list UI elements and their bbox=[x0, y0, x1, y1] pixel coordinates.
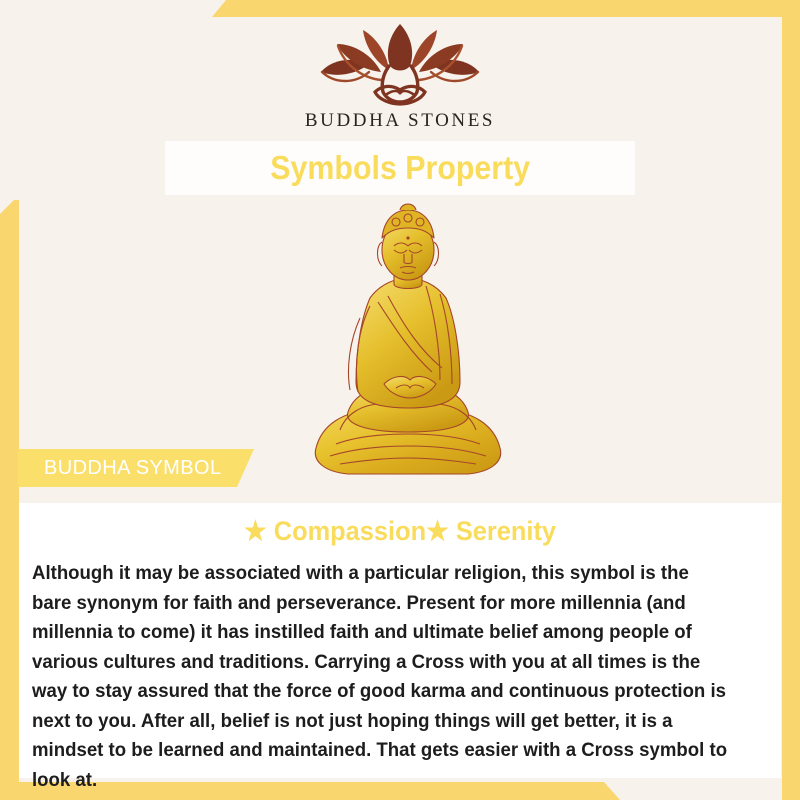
decor-top-right-bar bbox=[212, 0, 800, 17]
section-banner-label: BUDDHA SYMBOL bbox=[18, 457, 221, 480]
content-card: ★ Compassion★ Serenity Although it may b… bbox=[19, 503, 781, 778]
content-subtitle: ★ Compassion★ Serenity bbox=[42, 516, 758, 547]
lotus-meditation-figure-icon bbox=[311, 22, 489, 108]
page-title: Symbols Property bbox=[270, 149, 530, 187]
title-band: Symbols Property bbox=[165, 141, 635, 195]
brand-wordmark: BUDDHA STONES bbox=[0, 110, 800, 132]
content-paragraph: Although it may be associated with a par… bbox=[32, 559, 732, 795]
decor-left-bar bbox=[0, 200, 19, 800]
buddha-statue-illustration bbox=[300, 198, 516, 490]
section-banner: BUDDHA SYMBOL bbox=[18, 449, 254, 487]
seated-golden-buddha-statue bbox=[300, 198, 516, 490]
promotional-banner-page: BUDDHA STONES Symbols Property bbox=[0, 0, 800, 800]
brand-logo-block: BUDDHA STONES bbox=[0, 22, 800, 132]
